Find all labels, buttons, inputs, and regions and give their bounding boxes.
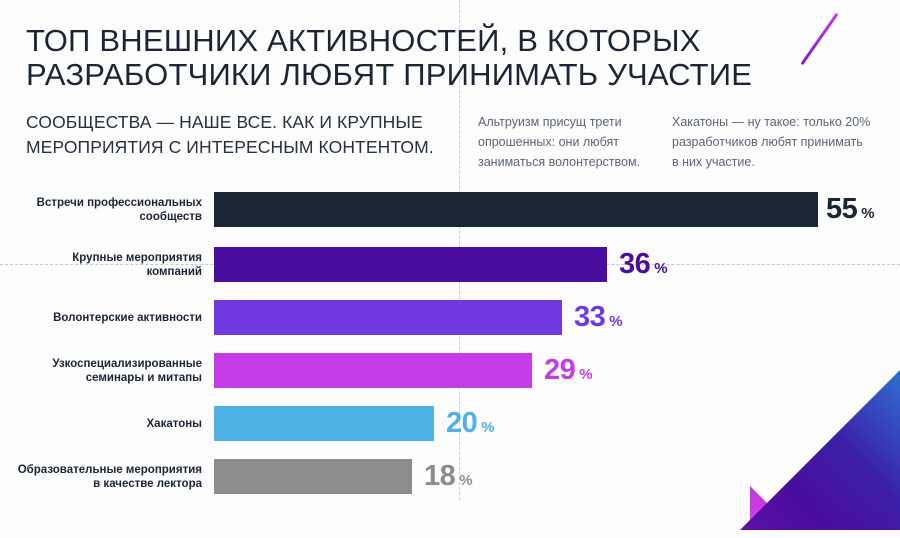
- bar-value: 33%: [574, 303, 623, 332]
- bar-label-line-1: Хакатоны: [2, 417, 202, 431]
- bar-label-line-2: компаний: [2, 265, 202, 279]
- bar: [214, 247, 607, 282]
- annotation-volunteering-line-2: опрошенных: они любят: [478, 132, 658, 152]
- page-title-line-2: РАЗРАБОТЧИКИ ЛЮБЯТ ПРИНИМАТЬ УЧАСТИЕ: [26, 58, 826, 92]
- bar: [214, 300, 562, 335]
- chart-row: Волонтерские активности33%: [0, 300, 900, 335]
- bar-label: Встречи профессиональныхсообществ: [2, 196, 202, 224]
- bar-label: Образовательные мероприятияв качестве ле…: [2, 463, 202, 491]
- chart-row: Узкоспециализированныесеминары и митапы2…: [0, 353, 900, 388]
- page-title: ТОП ВНЕШНИХ АКТИВНОСТЕЙ, В КОТОРЫХ РАЗРА…: [26, 24, 826, 92]
- bar-value: 29%: [544, 356, 593, 385]
- bar: [214, 353, 532, 388]
- page-title-line-1: ТОП ВНЕШНИХ АКТИВНОСТЕЙ, В КОТОРЫХ: [26, 23, 701, 58]
- bar-value-number: 36: [619, 250, 650, 279]
- bar-label: Крупные мероприятиякомпаний: [2, 251, 202, 279]
- chart-row: Хакатоны20%: [0, 406, 900, 441]
- bar-value-percent-sign: %: [459, 473, 472, 488]
- bar-label: Узкоспециализированныесеминары и митапы: [2, 357, 202, 385]
- bar-label-line-1: Встречи профессиональных: [2, 196, 202, 210]
- bar-label-line-1: Волонтерские активности: [2, 311, 202, 325]
- bar: [214, 406, 434, 441]
- annotation-hackathons-line-2: разработчиков любят принимать: [672, 132, 877, 152]
- bar-value: 36%: [619, 250, 668, 279]
- annotation-volunteering-line-1: Альтруизм присущ трети: [478, 112, 658, 132]
- bar-value-number: 33: [574, 303, 605, 332]
- bar-value-percent-sign: %: [481, 420, 494, 435]
- bar-label-line-1: Узкоспециализированные: [2, 357, 202, 371]
- chart-row: Образовательные мероприятияв качестве ле…: [0, 459, 900, 494]
- bar: [214, 459, 412, 494]
- bar-value-number: 18: [424, 462, 455, 491]
- bar-label: Хакатоны: [2, 417, 202, 431]
- bar-label: Волонтерские активности: [2, 311, 202, 325]
- page-subtitle-line-2: МЕРОПРИЯТИЯ С ИНТЕРЕСНЫМ КОНТЕНТОМ.: [26, 135, 446, 160]
- annotation-hackathons: Хакатоны — ну такое: только 20% разработ…: [672, 112, 877, 172]
- page-subtitle: СООБЩЕСТВА — НАШЕ ВСЕ. КАК И КРУПНЫЕ МЕР…: [26, 110, 446, 160]
- bar-value-number: 29: [544, 356, 575, 385]
- bar-label-line-2: в качестве лектора: [2, 477, 202, 491]
- annotation-hackathons-line-1: Хакатоны — ну такое: только 20%: [672, 112, 877, 132]
- bar-label-line-2: сообществ: [2, 210, 202, 224]
- bar-chart: Встречи профессиональныхсообществ55%Круп…: [0, 180, 900, 510]
- bar-label-line-1: Крупные мероприятия: [2, 251, 202, 265]
- bar-value: 20%: [446, 409, 495, 438]
- chart-row: Крупные мероприятиякомпаний36%: [0, 247, 900, 282]
- bar-value-number: 20: [446, 409, 477, 438]
- bar: [214, 192, 818, 227]
- annotation-hackathons-line-3: в них участие.: [672, 152, 877, 172]
- annotation-volunteering-line-3: заниматься волонтерством.: [478, 152, 658, 172]
- bar-value: 55%: [826, 195, 875, 224]
- chart-row: Встречи профессиональныхсообществ55%: [0, 192, 900, 227]
- bar-value-number: 55: [826, 195, 857, 224]
- bar-label-line-1: Образовательные мероприятия: [2, 463, 202, 477]
- bar-label-line-2: семинары и митапы: [2, 371, 202, 385]
- infographic-root: ТОП ВНЕШНИХ АКТИВНОСТЕЙ, В КОТОРЫХ РАЗРА…: [0, 0, 900, 538]
- bar-value: 18%: [424, 462, 473, 491]
- bar-value-percent-sign: %: [861, 206, 874, 221]
- bar-value-percent-sign: %: [579, 367, 592, 382]
- page-subtitle-line-1: СООБЩЕСТВА — НАШЕ ВСЕ. КАК И КРУПНЫЕ: [26, 112, 423, 132]
- bar-value-percent-sign: %: [609, 314, 622, 329]
- annotation-volunteering: Альтруизм присущ трети опрошенных: они л…: [478, 112, 658, 172]
- bar-value-percent-sign: %: [654, 261, 667, 276]
